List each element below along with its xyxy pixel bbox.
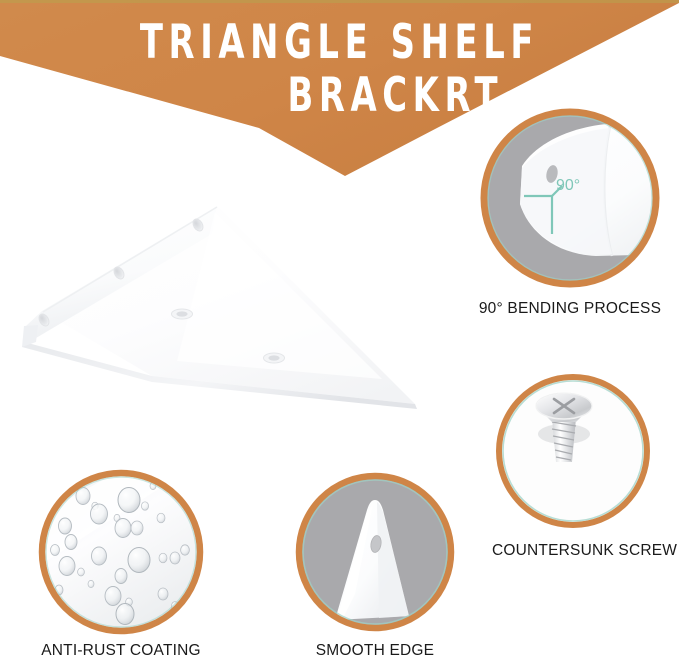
feature-bending-caption: 90° BENDING PROCESS	[476, 300, 664, 318]
bracket-illustration	[2, 176, 432, 422]
feature-rust-caption: ANTI-RUST COATING	[35, 642, 207, 660]
feature-bending-process: 90° 90° BENDING PROCESS	[476, 104, 664, 330]
feature-smooth-edge: SMOOTH EDGE	[293, 470, 457, 665]
banner-top-edge-line	[0, 0, 679, 3]
feature-edge-caption: SMOOTH EDGE	[293, 642, 457, 660]
bracket-return-lip	[22, 325, 38, 347]
plate-hole-2-bore	[268, 355, 279, 360]
water-droplets-icon	[35, 466, 207, 638]
bend-angle-label: 90°	[556, 177, 580, 194]
feature-countersunk-screw: COUNTERSUNK SCREW	[492, 370, 654, 570]
bracket-bend-closeup-icon: 90°	[476, 104, 664, 292]
infographic-canvas: TRIANGLE SHELF BRACKRT	[0, 0, 679, 665]
hero-product-image	[2, 176, 432, 422]
feature-anti-rust-coating: ANTI-RUST COATING	[35, 466, 207, 665]
plate-hole-1-bore	[176, 311, 187, 316]
countersunk-screw-icon	[492, 370, 654, 532]
bracket-tip-closeup-icon	[293, 470, 457, 634]
feature-screw-caption: COUNTERSUNK SCREW	[492, 542, 654, 560]
